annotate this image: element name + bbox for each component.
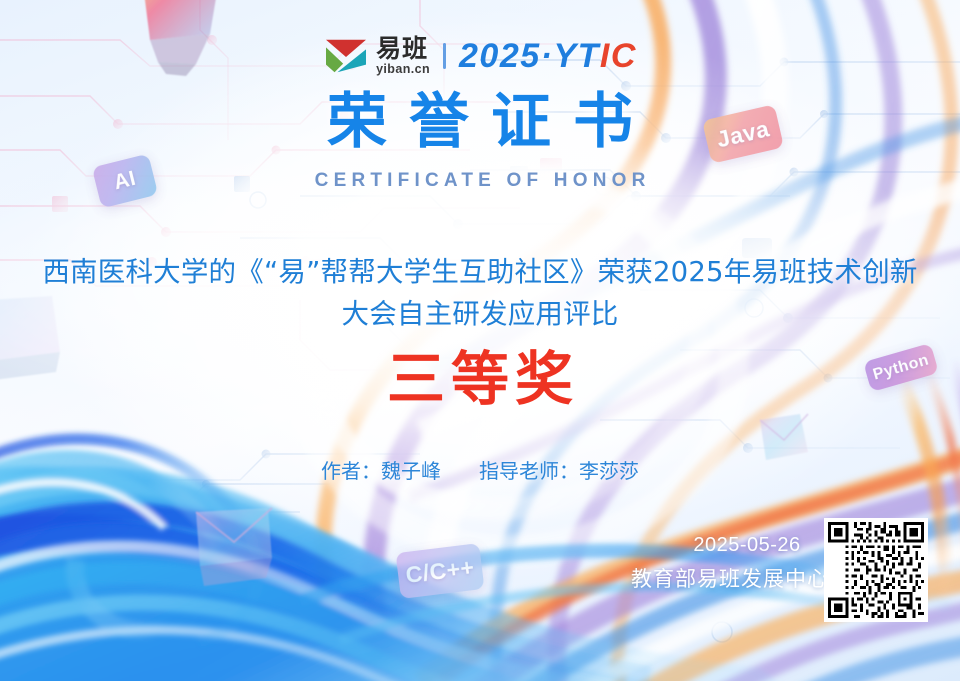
- yiban-chevron-logo-icon: [323, 36, 369, 76]
- author-credit: 作者：魏子峰: [321, 455, 441, 484]
- yiban-logo-cn: 易班: [376, 36, 430, 61]
- certificate-header: 易班 yiban.cn 2025·YTIC: [0, 36, 960, 76]
- header-divider: [443, 43, 446, 69]
- credits-row: 作者：魏子峰 指导老师：李莎莎: [0, 455, 960, 484]
- issue-date: 2025-05-26: [664, 534, 830, 557]
- certificate-title-cn: 荣誉证书: [0, 92, 960, 152]
- yiban-logo-en: yiban.cn: [376, 63, 430, 76]
- prize-level: 三等奖: [0, 350, 960, 408]
- event-tag-prefix: 2025·YT: [459, 37, 600, 75]
- advisor-credit: 指导老师：李莎莎: [479, 455, 639, 484]
- qr-code[interactable]: [824, 518, 928, 622]
- certificate-content: 易班 yiban.cn 2025·YTIC 荣誉证书 CERTIFICATE O…: [0, 0, 960, 681]
- tech-chip-cpp: C/C++: [396, 543, 485, 599]
- issuing-organization: 教育部易班发展中心: [630, 563, 830, 593]
- event-tag-suffix: IC: [600, 37, 637, 75]
- award-statement: 西南医科大学的《“易”帮帮大学生互助社区》荣获2025年易班技术创新大会自主研发…: [42, 252, 918, 336]
- yiban-logo-text: 易班 yiban.cn: [376, 36, 430, 76]
- certificate-canvas: 易班 yiban.cn 2025·YTIC 荣誉证书 CERTIFICATE O…: [0, 0, 960, 681]
- event-tag: 2025·YTIC: [459, 37, 637, 76]
- yiban-logo: 易班 yiban.cn: [323, 36, 430, 76]
- qr-code-icon: [828, 522, 924, 618]
- tech-chip-ai: AI: [92, 154, 158, 209]
- issuer-block: 2025-05-26 教育部易班发展中心: [630, 534, 830, 593]
